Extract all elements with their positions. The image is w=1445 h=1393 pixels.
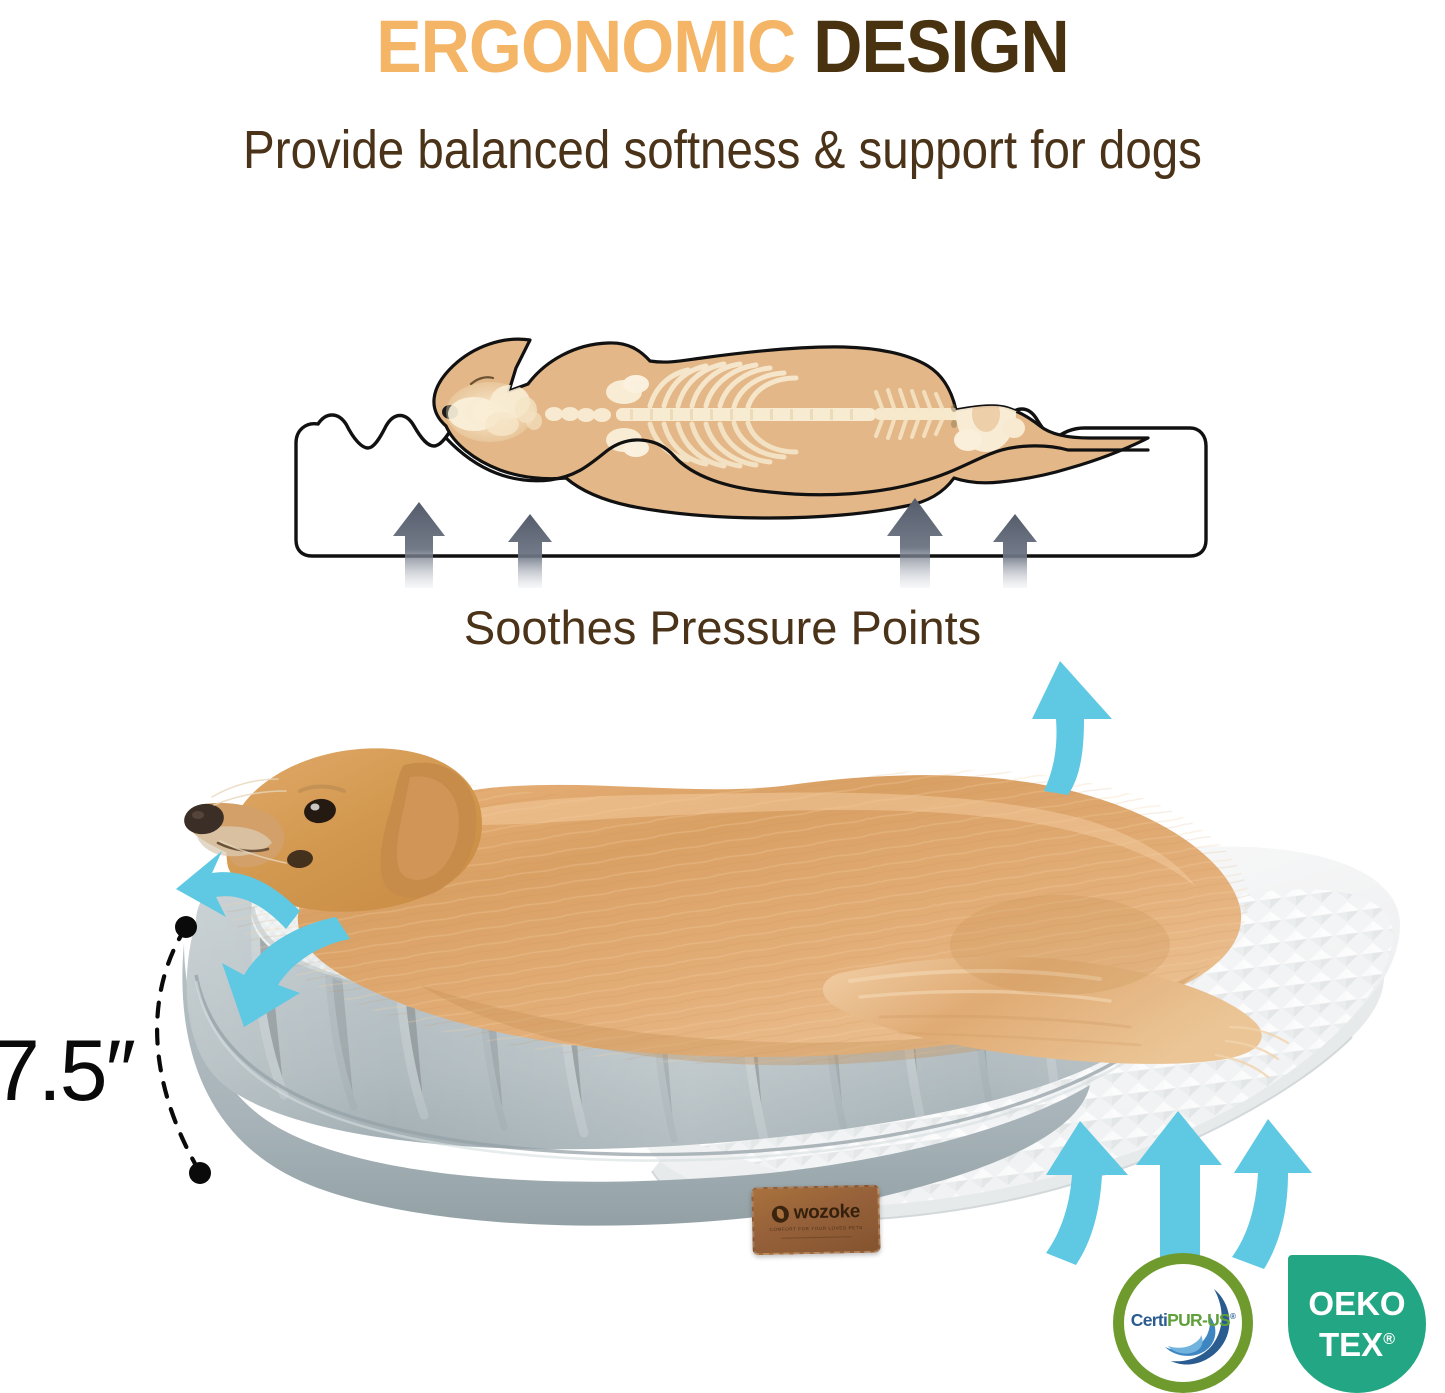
certipur-wordmark-a: Certi — [1131, 1310, 1167, 1330]
brand-label-patch: wozoke COMFORT FOR YOUR LOVED PETS — [751, 1185, 880, 1256]
up-arrow — [1032, 661, 1112, 795]
page-title: ERGONOMIC DESIGN — [58, 4, 1387, 90]
bed-height-label: 7.5″ — [0, 1025, 172, 1117]
certipur-wordmark-b: PUR-US — [1167, 1310, 1230, 1330]
oeko-tex-badge: OEKO TEX® — [1288, 1255, 1426, 1393]
up-arrow — [1232, 1119, 1312, 1269]
page-subtitle: Provide balanced softness & support for … — [87, 118, 1359, 182]
ergonomic-support-diagram — [278, 288, 1213, 588]
oeko-tex-line2-text: TEX — [1319, 1326, 1383, 1363]
brand-patch-rule — [781, 1236, 851, 1238]
oeko-tex-line1: OEKO — [1308, 1286, 1405, 1322]
measure-dot-top — [175, 916, 197, 938]
oeko-tex-line2: TEX® — [1319, 1322, 1395, 1363]
certipur-registered-mark: ® — [1230, 1312, 1235, 1321]
measure-dot-bottom — [189, 1162, 211, 1184]
brand-tagline: COMFORT FOR YOUR LOVED PETS — [770, 1225, 863, 1232]
certipur-wordmark: CertiPUR-US® — [1113, 1310, 1253, 1331]
certipur-us-badge: CONTAINS CERTIFIED FLEXIBLE POLYURETHANE… — [1113, 1253, 1253, 1393]
brand-logo-icon — [772, 1205, 789, 1222]
page-title-accent: ERGONOMIC — [376, 5, 795, 88]
brand-name: wozoke — [794, 1201, 861, 1224]
page-title-dark: DESIGN — [813, 5, 1069, 88]
oeko-registered-mark: ® — [1383, 1331, 1395, 1348]
